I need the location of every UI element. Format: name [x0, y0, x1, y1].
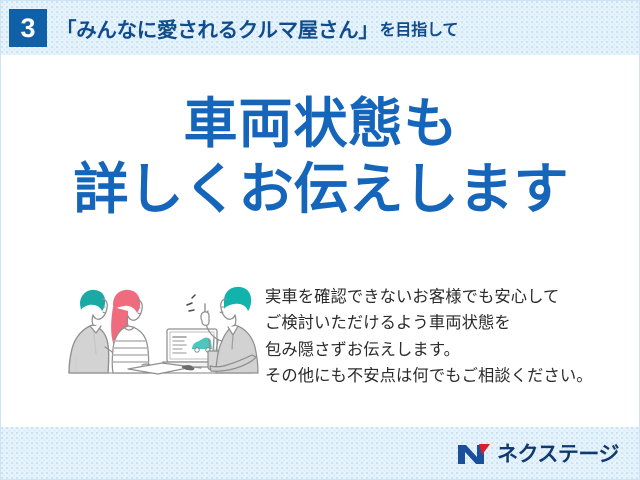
- body-copy: 実車を確認できないお客様でも安心して ご検討いただけるよう車両状態を 包み隠さず…: [265, 284, 615, 390]
- consultation-illustration-svg: [56, 277, 261, 389]
- section-number-badge: 3: [9, 9, 47, 47]
- body-copy-line-4: その他にも不安点は何でもご相談ください。: [265, 363, 615, 389]
- headline-line-1: 車両状態も: [1, 96, 640, 153]
- header-title-suffix: を目指して: [379, 16, 459, 40]
- nextage-n-logo-icon: [457, 442, 491, 466]
- body-copy-line-1: 実車を確認できないお客様でも安心して: [265, 284, 615, 310]
- customer-female: [111, 290, 153, 373]
- advertisement-page: 3 「みんなに愛されるクルマ屋さん」 を目指して 車両状態も 詳しくお伝えします: [0, 0, 640, 480]
- footer-band: ネクステージ: [1, 427, 640, 480]
- body-copy-line-3: 包み隠さずお伝えします。: [265, 337, 615, 363]
- header-title: 「みんなに愛されるクルマ屋さん」 を目指して: [56, 9, 458, 47]
- nextage-logo-text: ネクステージ: [497, 444, 619, 465]
- main-headline: 車両状態も 詳しくお伝えします: [1, 96, 640, 219]
- consultation-illustration: [56, 277, 261, 389]
- nextage-logo: ネクステージ: [457, 439, 619, 469]
- header-title-quoted: 「みんなに愛されるクルマ屋さん」: [56, 13, 379, 43]
- headline-line-2: 詳しくお伝えします: [1, 160, 640, 218]
- body-copy-line-2: ご検討いただけるよう車両状態を: [265, 310, 615, 336]
- speech-marks: [187, 295, 195, 311]
- header-band: 3 「みんなに愛されるクルマ屋さん」 を目指して: [1, 1, 640, 55]
